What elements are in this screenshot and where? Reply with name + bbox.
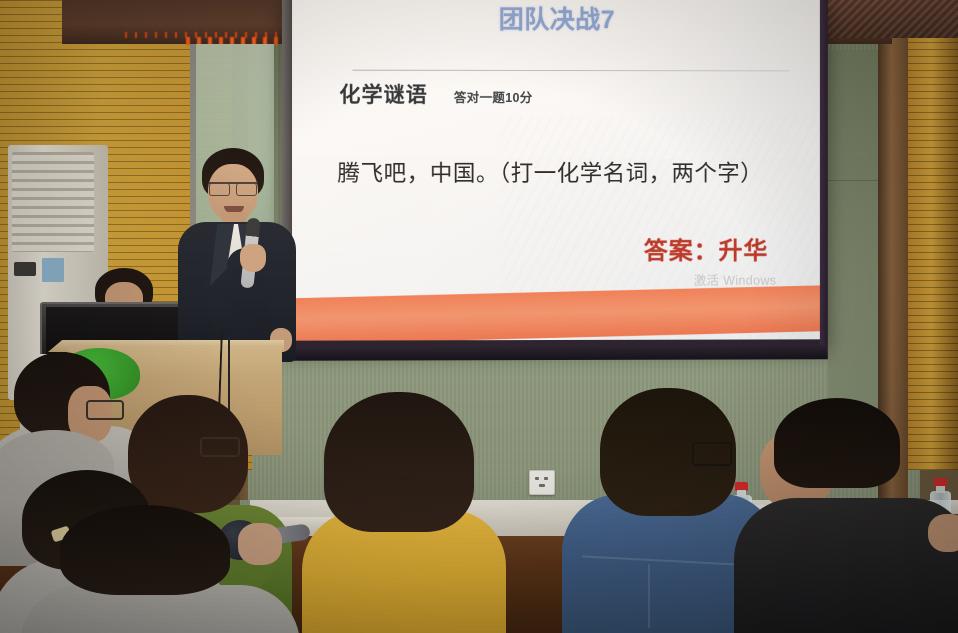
audience-yellow-top (308, 392, 498, 633)
front-left-lower-hair (60, 505, 230, 595)
denim-glasses (692, 442, 732, 466)
slide-section-note: 答对一题10分 (454, 87, 533, 106)
socket-slot (535, 477, 539, 480)
presenter-hand (240, 244, 266, 272)
socket-slot (544, 477, 548, 480)
denim-seam-vertical (648, 564, 650, 628)
slide-divider (352, 70, 789, 72)
black-top-hair (774, 398, 900, 488)
ac-sticker (42, 258, 64, 282)
slide-accent-band (292, 285, 820, 341)
screen-frame-right-edge (820, 0, 828, 347)
green-wall-seam-line (828, 180, 878, 181)
slide-answer-text: 答案：升华 (644, 231, 768, 266)
lecture-hall-scene: 团队决战7 化学谜语 答对一题10分 腾飞吧，中国。（打一化学名词，两个字） 答… (0, 0, 958, 633)
yellow-top-hair (324, 392, 474, 532)
wall-power-socket (529, 470, 555, 495)
projection-screen: 团队决战7 化学谜语 答对一题10分 腾飞吧，中国。（打一化学名词，两个字） 答… (282, 0, 828, 349)
slide-subheading-row: 化学谜语 答对一题10分 (339, 79, 532, 109)
ceiling-beam-right (820, 0, 958, 38)
socket-slot (539, 484, 545, 487)
slide-title: 团队决战7 (292, 0, 820, 37)
ac-vents (12, 152, 94, 252)
presenter-glasses (208, 182, 258, 195)
ac-control-knob (14, 262, 36, 276)
green-sweater-glasses (200, 437, 240, 457)
audience-front-left-lower (60, 505, 290, 633)
presentation-slide: 团队决战7 化学谜语 答对一题10分 腾飞吧，中国。（打一化学名词，两个字） 答… (292, 0, 820, 341)
black-top-body (734, 498, 958, 633)
slide-riddle-text: 腾飞吧，中国。（打一化学名词，两个字） (337, 156, 797, 188)
black-top-hand (928, 514, 958, 552)
audience-black-top (756, 398, 958, 633)
slide-section-heading: 化学谜语 (339, 79, 427, 109)
screen-frame-bottom-edge (282, 345, 828, 360)
front-left-lower-hand (238, 523, 282, 565)
